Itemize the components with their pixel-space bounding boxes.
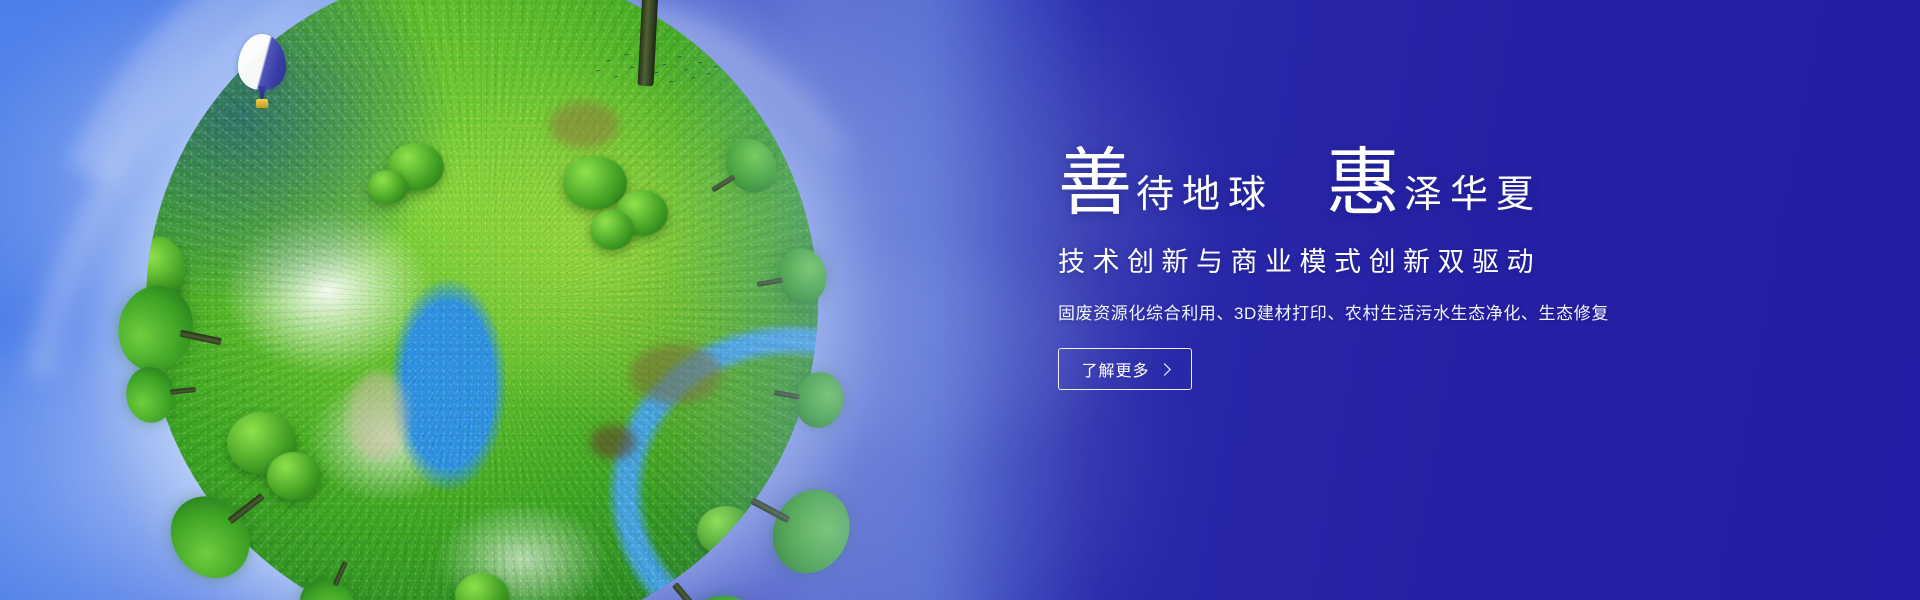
dirt-patch	[590, 425, 636, 459]
horizon-tree	[768, 360, 834, 433]
chevron-right-icon	[1158, 363, 1171, 376]
headline-primary-char-1: 善	[1058, 146, 1132, 220]
headline-secondary-text-2: 泽华夏	[1404, 175, 1542, 220]
hero-banner: 善 待地球 惠 泽华夏 技术创新与商业模式创新双驱动 固废资源化综合利用、3D建…	[0, 0, 1920, 600]
hero-description: 固废资源化综合利用、3D建材打印、农村生活污水生态净化、生态修复	[1058, 299, 1698, 324]
bush	[267, 452, 321, 500]
bush	[590, 210, 634, 250]
hero-headline: 善 待地球 惠 泽华夏	[1058, 124, 1698, 220]
balloon-neck	[258, 86, 266, 100]
headline-secondary-text-1: 待地球	[1136, 175, 1274, 220]
shoreline-sand-patch	[348, 371, 408, 461]
learn-more-label: 了解更多	[1081, 357, 1149, 381]
balloon-envelope	[238, 34, 286, 90]
horizon-tree	[143, 362, 199, 423]
dirt-patch	[630, 344, 722, 404]
learn-more-button[interactable]: 了解更多	[1058, 348, 1192, 390]
hero-subtitle: 技术创新与商业模式创新双驱动	[1058, 240, 1698, 279]
balloon-basket	[256, 99, 268, 108]
headline-primary-char-2: 惠	[1326, 146, 1400, 220]
hot-air-balloon-icon	[238, 34, 286, 112]
bush	[368, 170, 408, 204]
bird-flock	[594, 48, 724, 92]
horizon-tree	[752, 249, 809, 311]
hero-content: 善 待地球 惠 泽华夏 技术创新与商业模式创新双驱动 固废资源化综合利用、3D建…	[1058, 124, 1698, 390]
bush	[563, 156, 627, 210]
